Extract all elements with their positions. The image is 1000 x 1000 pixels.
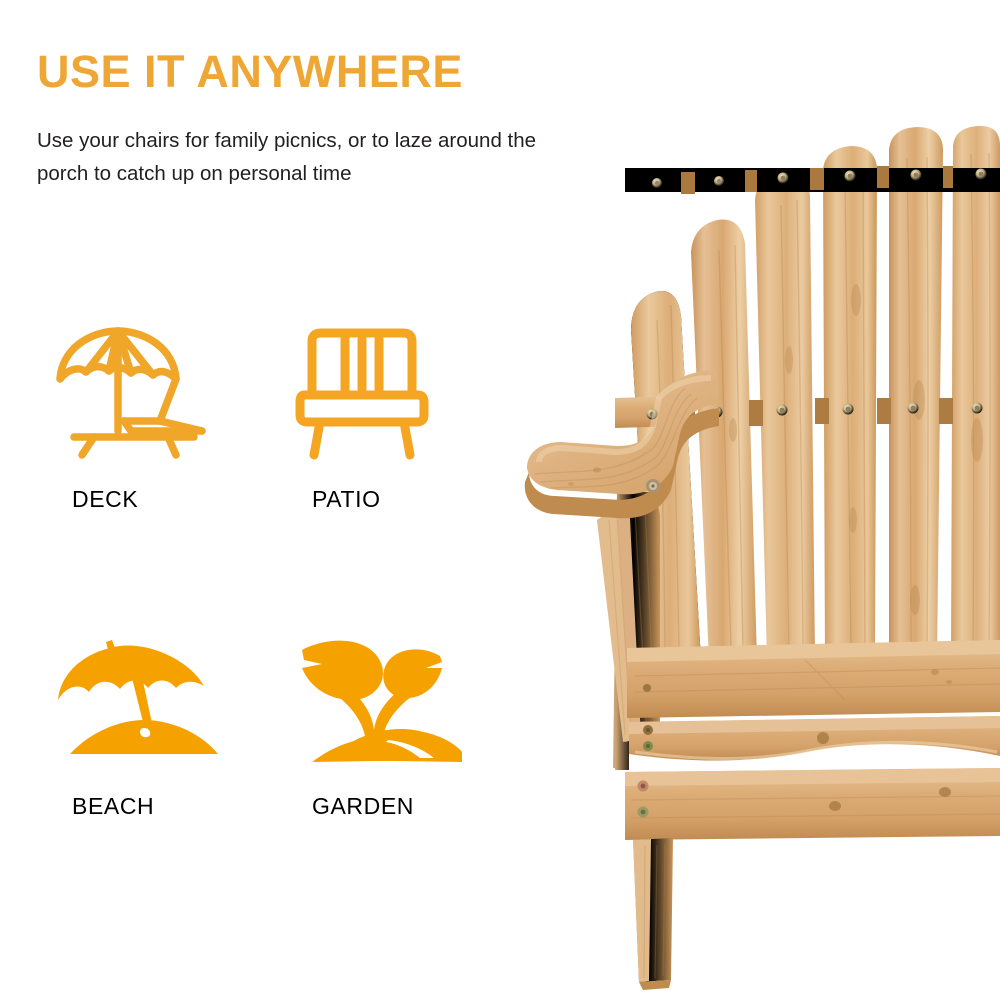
feature-beach: BEACH bbox=[30, 625, 270, 820]
product-photo-adirondack-chair bbox=[505, 0, 1000, 1000]
page-title: USE IT ANYWHERE bbox=[37, 48, 463, 95]
beach-umbrella-sand-icon bbox=[30, 625, 222, 775]
feature-label-garden: GARDEN bbox=[270, 793, 414, 820]
sprout-plant-icon bbox=[270, 625, 462, 775]
feature-label-patio: PATIO bbox=[270, 486, 381, 513]
feature-garden: GARDEN bbox=[270, 625, 510, 820]
feature-row-top: DECK bbox=[30, 318, 510, 513]
feature-label-beach: BEACH bbox=[30, 793, 154, 820]
feature-grid: DECK bbox=[30, 318, 510, 820]
feature-deck: DECK bbox=[30, 318, 270, 513]
feature-label-deck: DECK bbox=[30, 486, 138, 513]
slatted-bench-chair-icon bbox=[270, 318, 442, 468]
feature-patio: PATIO bbox=[270, 318, 510, 513]
umbrella-lounge-chair-icon bbox=[30, 318, 212, 468]
feature-row-bottom: BEACH bbox=[30, 625, 510, 820]
product-infographic: USE IT ANYWHERE Use your chairs for fami… bbox=[0, 0, 1000, 1000]
page-subtitle: Use your chairs for family picnics, or t… bbox=[37, 124, 557, 190]
